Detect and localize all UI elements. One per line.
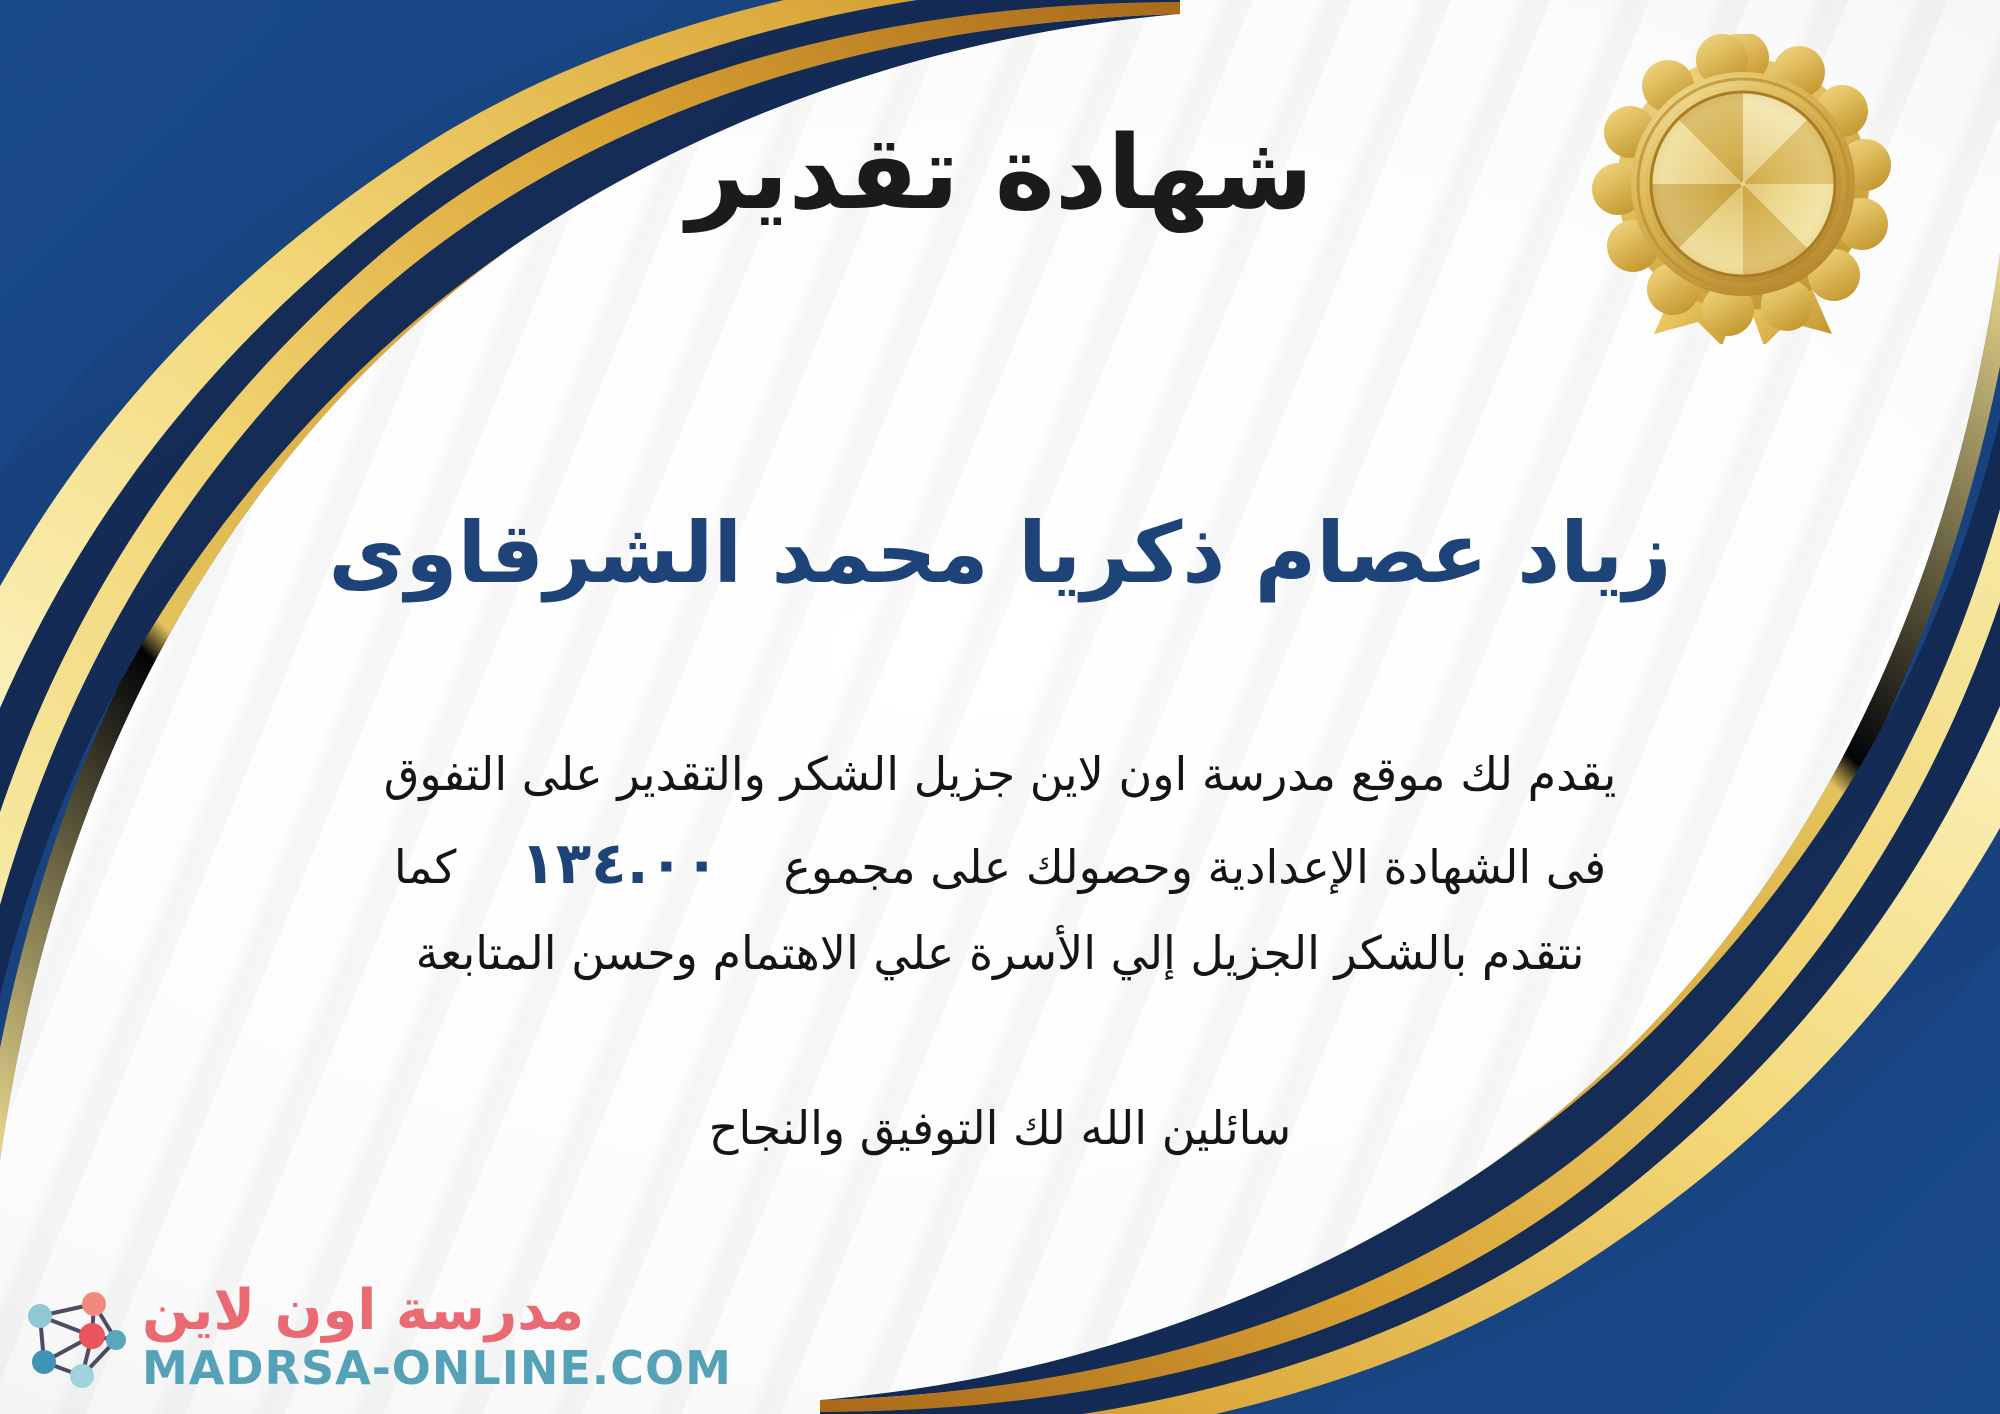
certificate-body: يقدم لك موقع مدرسة اون لاين جزيل الشكر و…: [50, 735, 1950, 993]
brand-website-url: MADRSA-ONLINE.COM: [142, 1345, 732, 1391]
certificate-page: شهادة تقدير زياد عصام ذكريا محمد الشرقاو…: [0, 0, 2000, 1414]
brand-logo[interactable]: مدرسة اون لاين MADRSA-ONLINE.COM: [20, 1278, 732, 1396]
body-line-2: فى الشهادة الإعدادية وحصولك على مجموع١٣٤…: [50, 814, 1950, 914]
brand-logo-text: مدرسة اون لاين MADRSA-ONLINE.COM: [142, 1283, 732, 1391]
body-line-2-prefix: فى الشهادة الإعدادية وحصولك على مجموع: [783, 840, 1606, 894]
page-title: شهادة تقدير: [0, 118, 2000, 230]
body-line-1: يقدم لك موقع مدرسة اون لاين جزيل الشكر و…: [50, 735, 1950, 814]
body-line-2-suffix: كما: [394, 840, 457, 894]
closing-wishes: سائلين الله لك التوفيق والنجاح: [0, 1092, 2000, 1166]
grade-total-value: ١٣٤.٠٠: [486, 829, 753, 897]
certificate-content: شهادة تقدير زياد عصام ذكريا محمد الشرقاو…: [0, 0, 2000, 1414]
network-nodes-icon: [20, 1278, 128, 1396]
recipient-name: زياد عصام ذكريا محمد الشرقاوى: [0, 505, 2000, 602]
body-line-3: نتقدم بالشكر الجزيل إلي الأسرة علي الاهت…: [50, 914, 1950, 993]
brand-name-arabic: مدرسة اون لاين: [142, 1283, 584, 1339]
